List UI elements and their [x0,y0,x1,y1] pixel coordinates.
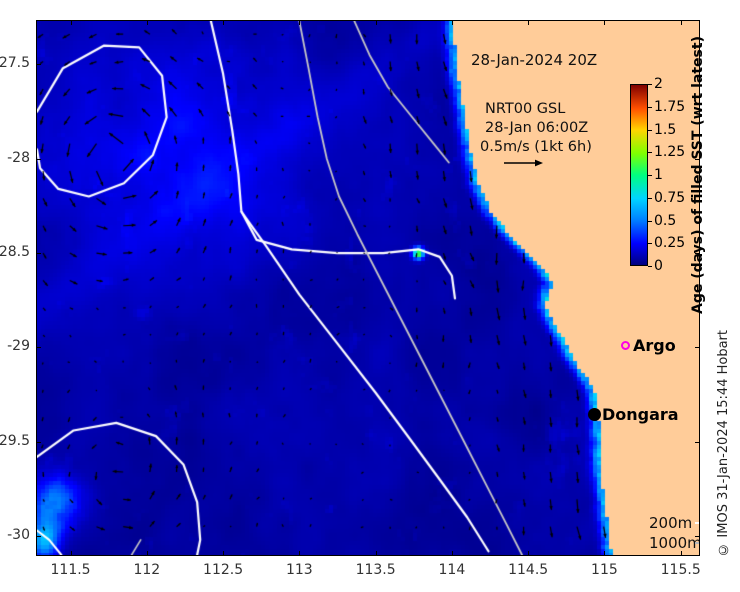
colorbar[interactable] [630,84,648,266]
colorbar-tick [648,243,652,244]
source-product-label: NRT00 GSL [485,101,565,117]
x-tick-label: 115 [574,562,634,578]
argo-marker-icon [621,341,630,350]
x-tick [681,20,682,25]
depth-1000m-line-sample [695,542,700,544]
x-tick [299,20,300,25]
y-tick-label: -29 [0,338,30,354]
colorbar-tick-label: 1.5 [654,122,676,138]
x-tick [223,20,224,25]
depth-200m-label: 200m [649,514,692,532]
x-tick [528,551,529,556]
x-tick-label: 112.5 [193,562,253,578]
y-tick [36,64,41,65]
x-tick [376,551,377,556]
colorbar-tick-label: 2 [654,76,663,92]
y-tick-label: -29.5 [0,433,30,449]
x-tick [604,20,605,25]
x-tick [681,551,682,556]
colorbar-tick [648,84,652,85]
x-tick [604,551,605,556]
x-tick-label: 111.5 [41,562,101,578]
y-tick [36,253,41,254]
x-tick [299,551,300,556]
x-tick-label: 114 [422,562,482,578]
x-tick [452,20,453,25]
depth-200m-line-sample [695,522,700,524]
colorbar-tick [648,107,652,108]
colorbar-tick-label: 1.75 [654,99,685,115]
colorbar-gradient [631,85,647,265]
dongara-marker-icon [588,408,601,421]
colorbar-tick-label: 0 [654,258,663,274]
y-tick [695,347,700,348]
colorbar-tick [648,152,652,153]
colorbar-tick [648,198,652,199]
depth-contour-legend: 200m 1000m [649,513,700,553]
colorbar-tick-label: 0.5 [654,213,676,229]
x-tick [376,20,377,25]
x-tick [147,551,148,556]
x-tick [71,20,72,25]
date-stamp-label: 28-Jan-2024 20Z [471,51,597,69]
x-tick [528,20,529,25]
y-tick [36,536,41,537]
argo-legend-label: Argo [633,336,676,355]
source-time-label: 28-Jan 06:00Z [485,120,588,136]
colorbar-tick-label: 0.75 [654,190,685,206]
y-tick [36,159,41,160]
y-tick [695,442,700,443]
x-tick-label: 114.5 [498,562,558,578]
x-tick-label: 112 [117,562,177,578]
colorbar-tick-label: 1.25 [654,144,685,160]
depth-legend-row-200m: 200m [649,513,700,533]
credit-label: © IMOS 31-Jan-2024 15:44 Hobart [716,330,731,557]
colorbar-tick-label: 0.25 [654,235,685,251]
colorbar-tick [648,130,652,131]
map-plot-area[interactable]: 28-Jan-2024 20Z NRT00 GSL 28-Jan 06:00Z … [36,20,700,556]
x-tick [71,551,72,556]
right-arrow-icon [503,158,543,168]
colorbar-tick [648,221,652,222]
y-tick [36,347,41,348]
colorbar-tick [648,266,652,267]
x-tick [223,551,224,556]
y-tick-label: -30 [0,527,30,543]
x-tick-label: 113 [269,562,329,578]
dongara-place-label: Dongara [602,405,679,424]
x-tick-label: 113.5 [346,562,406,578]
colorbar-tick [648,175,652,176]
y-tick-label: -28.5 [0,244,30,260]
y-tick-label: -27.5 [0,55,30,71]
colorbar-tick-label: 1 [654,167,663,183]
x-tick-label: 115.5 [651,562,711,578]
depth-legend-row-1000m: 1000m [649,533,700,553]
y-tick [695,536,700,537]
y-tick-label: -28 [0,150,30,166]
colorbar-title: Age (days) of filled SST (wrt latest) [690,84,706,266]
vector-scale-label: 0.5m/s (1kt 6h) [480,139,592,155]
figure-canvas: 28-Jan-2024 20Z NRT00 GSL 28-Jan 06:00Z … [0,0,740,592]
x-tick [147,20,148,25]
depth-1000m-label: 1000m [649,534,700,552]
y-tick [36,442,41,443]
x-tick [452,551,453,556]
current-vectors [37,21,699,555]
